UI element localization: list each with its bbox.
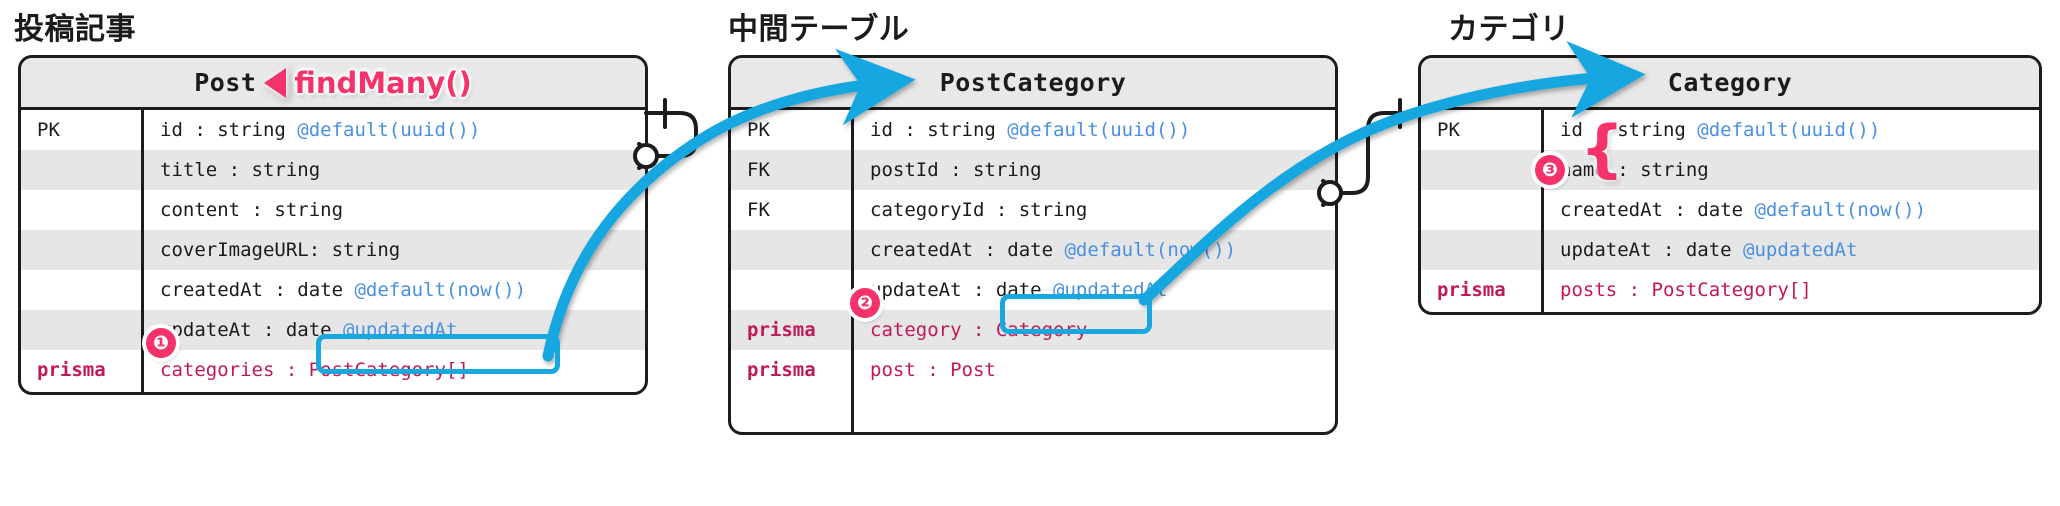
row-field: categoryId : string — [851, 190, 1335, 230]
section-caption-category: カテゴリ — [1448, 4, 1570, 48]
row-key: PK — [731, 119, 851, 141]
table-row[interactable]: updateAt : date @updatedAt — [731, 270, 1335, 310]
column-divider — [851, 110, 854, 432]
row-field: updateAt : date @updatedAt — [1541, 230, 2039, 270]
row-field: createdAt : date @default(now()) — [1541, 190, 2039, 230]
table-row[interactable]: createdAt : date @default(now()) — [21, 270, 645, 310]
table-rows-postcategory: PK id : string @default(uuid()) FK postI… — [731, 110, 1335, 390]
section-caption-junction: 中間テーブル — [728, 4, 909, 48]
row-field: posts : PostCategory[] — [1541, 270, 2039, 310]
findmany-callout-label: findMany() — [294, 66, 471, 100]
table-row[interactable]: PK id : string @default(uuid()) — [1421, 110, 2039, 150]
row-field: title : string — [141, 150, 645, 190]
row-field: post : Post — [851, 350, 1335, 390]
row-field: content : string — [141, 190, 645, 230]
row-field: coverImageURL: string — [141, 230, 645, 270]
triangle-left-icon — [264, 68, 286, 98]
table-rows-category: PK id : string @default(uuid()) name : s… — [1421, 110, 2039, 310]
table-row[interactable]: PK id : string @default(uuid()) — [731, 110, 1335, 150]
row-field: categories : PostCategory[] — [141, 350, 645, 390]
row-field: createdAt : date @default(now()) — [851, 230, 1335, 270]
step-badge-2: ❷ — [850, 288, 880, 318]
table-card-category[interactable]: Category PK id : string @default(uuid())… — [1418, 55, 2042, 315]
table-row[interactable]: createdAt : date @default(now()) — [1421, 190, 2039, 230]
table-row[interactable]: prisma post : Post — [731, 350, 1335, 390]
table-row[interactable]: FK postId : string — [731, 150, 1335, 190]
section-caption-posts: 投稿記事 — [14, 4, 136, 48]
row-field: postId : string — [851, 150, 1335, 190]
column-divider — [1541, 110, 1544, 312]
row-field: createdAt : date @default(now()) — [141, 270, 645, 310]
table-rows-post: PK id : string @default(uuid()) title : … — [21, 110, 645, 390]
row-key: PK — [1421, 119, 1541, 141]
table-header-category: Category — [1421, 58, 2039, 110]
row-key: FK — [731, 199, 851, 221]
row-field: updateAt : date @updatedAt — [851, 270, 1335, 310]
table-row[interactable]: prisma posts : PostCategory[] — [1421, 270, 2039, 310]
table-row[interactable]: PK id : string @default(uuid()) — [21, 110, 645, 150]
table-title-postcategory: PostCategory — [940, 68, 1127, 97]
table-header-postcategory: PostCategory — [731, 58, 1335, 110]
table-card-post[interactable]: Post findMany() PK id : string @default(… — [18, 55, 648, 395]
table-row[interactable]: content : string — [21, 190, 645, 230]
row-field: id : string @default(uuid()) — [851, 110, 1335, 150]
table-row[interactable]: updateAt : date @updatedAt — [21, 310, 645, 350]
table-row[interactable]: updateAt : date @updatedAt — [1421, 230, 2039, 270]
row-key: prisma — [1421, 279, 1541, 301]
step-badge-3: ❸ — [1535, 155, 1565, 185]
table-row[interactable]: title : string — [21, 150, 645, 190]
table-row[interactable]: name : string — [1421, 150, 2039, 190]
table-row[interactable]: coverImageURL: string — [21, 230, 645, 270]
row-key: prisma — [21, 359, 141, 381]
step-badge-1: ❶ — [146, 328, 176, 358]
er-diagram-canvas: 投稿記事 中間テーブル カテゴリ Post findMany() PK id :… — [0, 0, 2060, 506]
table-row[interactable]: prisma categories : PostCategory[] — [21, 350, 645, 390]
row-key: prisma — [731, 319, 851, 341]
row-key: FK — [731, 159, 851, 181]
table-title-category: Category — [1668, 68, 1792, 97]
row-field: updateAt : date @updatedAt — [141, 310, 645, 350]
table-row[interactable]: prisma category : Category — [731, 310, 1335, 350]
table-header-post: Post findMany() — [21, 58, 645, 110]
table-card-postcategory[interactable]: PostCategory PK id : string @default(uui… — [728, 55, 1338, 435]
table-row[interactable]: FK categoryId : string — [731, 190, 1335, 230]
column-divider — [141, 110, 144, 392]
table-row[interactable]: createdAt : date @default(now()) — [731, 230, 1335, 270]
pink-brace: { — [1580, 118, 1624, 180]
row-field: id : string @default(uuid()) — [141, 110, 645, 150]
row-key: PK — [21, 119, 141, 141]
row-field: category : Category — [851, 310, 1335, 350]
table-title-post: Post — [194, 68, 256, 97]
row-key: prisma — [731, 359, 851, 381]
